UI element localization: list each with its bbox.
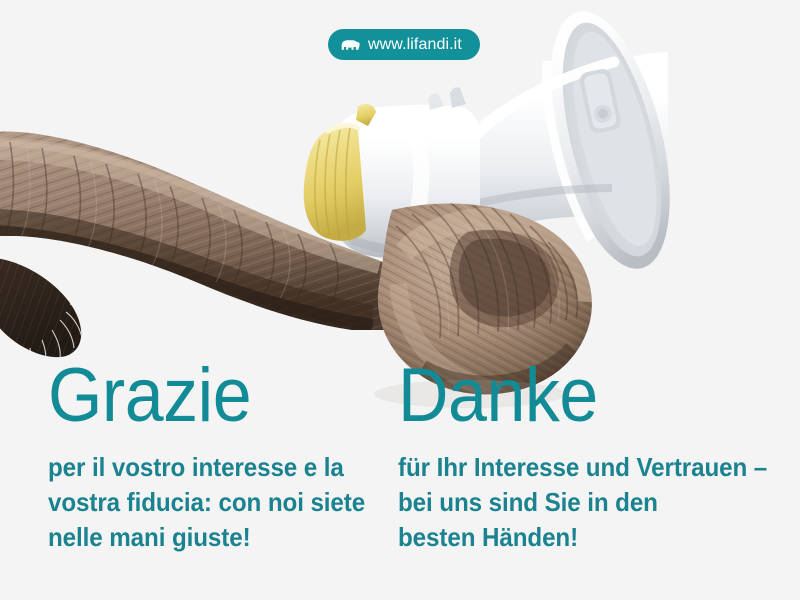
italian-column: Grazie per il vostro interesse e la vost…: [48, 356, 378, 555]
german-body-line-1: für Ihr Interesse und Vertrauen –: [398, 450, 751, 485]
website-url: www.lifandi.it: [368, 37, 462, 53]
german-body-line-2: bei uns sind Sie in den: [398, 485, 751, 520]
italian-headline: Grazie: [48, 356, 352, 436]
italian-body: per il vostro interesse e la vostra fidu…: [48, 450, 355, 555]
german-column: Danke für Ihr Interesse und Vertrauen – …: [398, 356, 778, 555]
italian-body-line-1: per il vostro interesse e la: [48, 450, 355, 485]
german-body-line-3: besten Händen!: [398, 520, 751, 555]
website-badge[interactable]: www.lifandi.it: [328, 29, 480, 60]
elephant-icon: [341, 37, 360, 53]
text-columns: Grazie per il vostro interesse e la vost…: [0, 0, 800, 600]
poster-canvas: www.lifandi.it Grazie per il vostro inte…: [0, 0, 800, 600]
italian-body-line-3: nelle mani giuste!: [48, 520, 355, 555]
german-body: für Ihr Interesse und Vertrauen – bei un…: [398, 450, 751, 555]
german-headline: Danke: [398, 356, 748, 436]
italian-body-line-2: vostra fiducia: con noi siete: [48, 485, 355, 520]
